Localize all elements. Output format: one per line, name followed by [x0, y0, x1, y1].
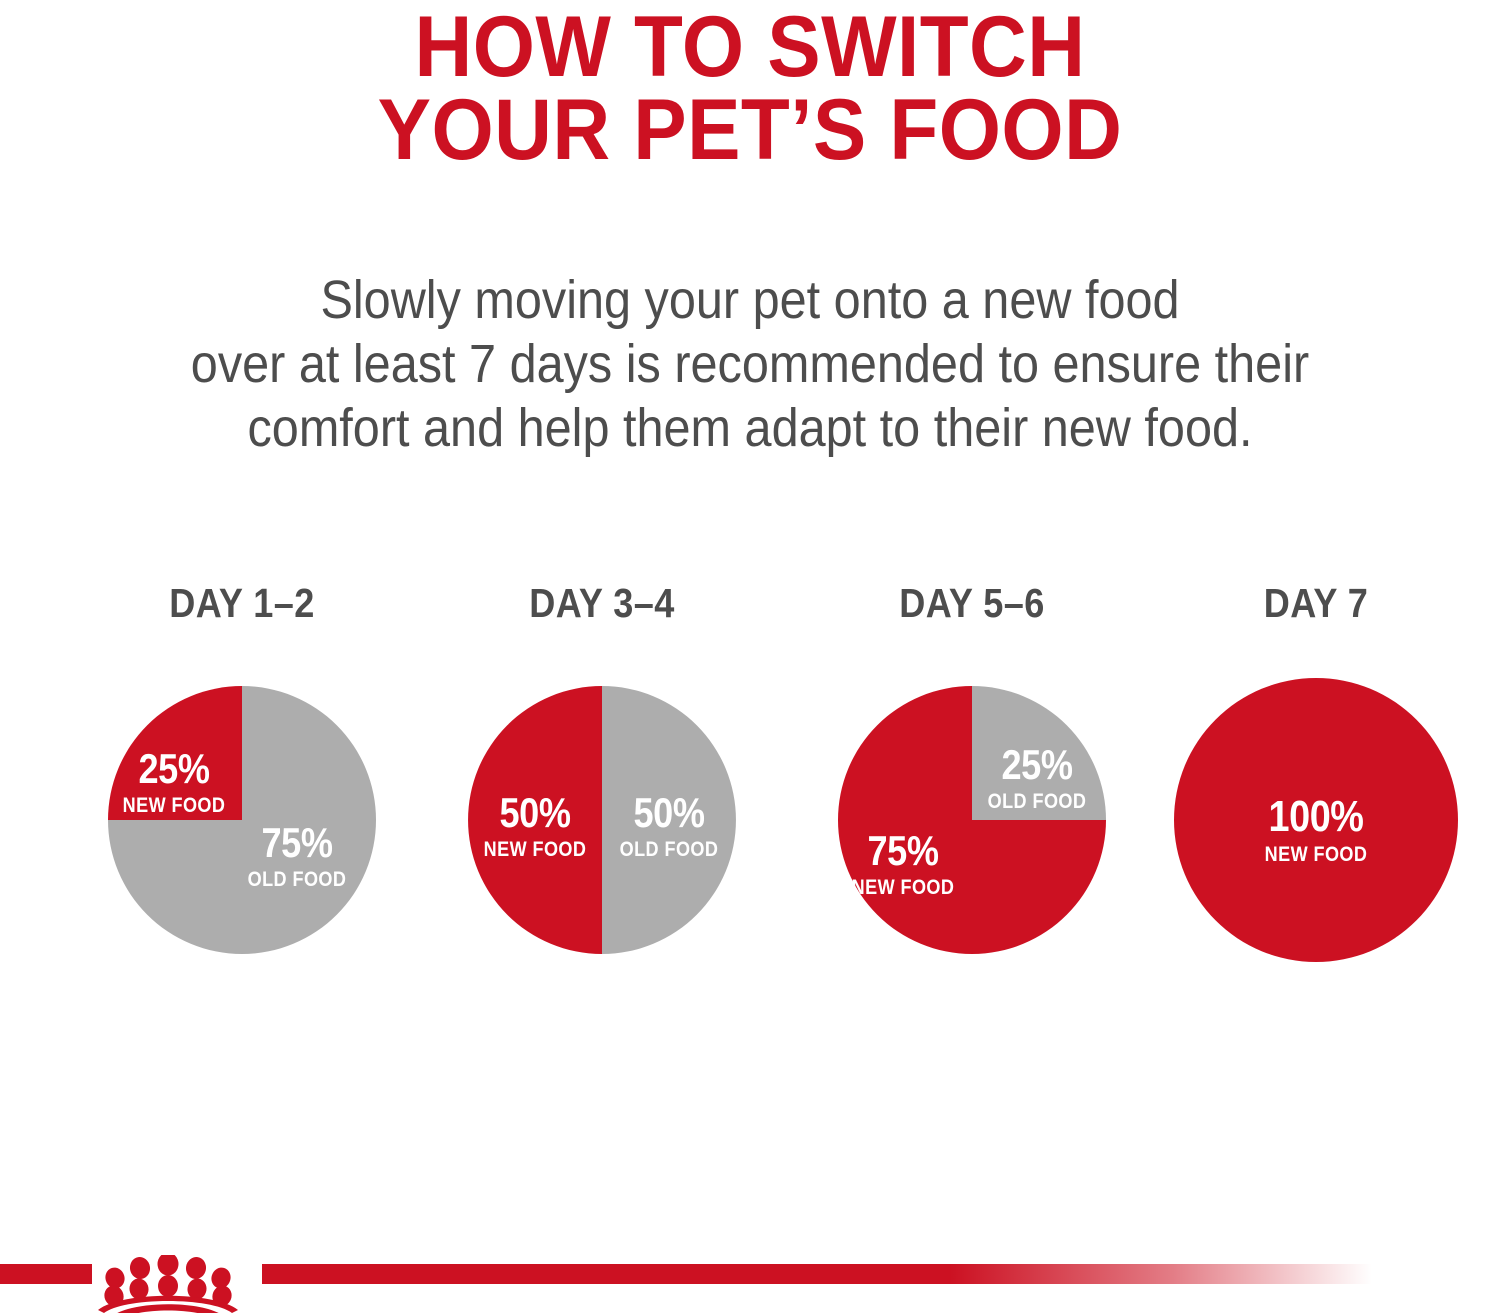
pie-day-5-6: 25% OLD FOOD 75% NEW FOOD — [822, 670, 1122, 970]
day-label-7: DAY 7 — [1184, 580, 1448, 626]
pie-svg-day-1-2 — [92, 670, 392, 970]
pie-chart-row: DAY 1–2 25% NEW FOOD 75% OLD FOOD — [0, 580, 1500, 980]
pie-svg-day-5-6 — [822, 670, 1122, 970]
day-label-5-6: DAY 5–6 — [840, 580, 1104, 626]
chart-day-3-4: DAY 3–4 50% NEW FOOD 50% OLD FOOD — [452, 580, 752, 980]
footer — [0, 1255, 1500, 1313]
pie-slice-old-food — [972, 686, 1106, 820]
intro-paragraph: Slowly moving your pet onto a new food o… — [75, 268, 1425, 460]
footer-rule-left — [0, 1264, 92, 1284]
infographic-page: HOW TO SWITCH YOUR PET’S FOOD Slowly mov… — [0, 0, 1500, 1313]
page-title-line-1: HOW TO SWITCH — [53, 6, 1448, 89]
pie-day-3-4: 50% NEW FOOD 50% OLD FOOD — [452, 670, 752, 970]
chart-day-1-2: DAY 1–2 25% NEW FOOD 75% OLD FOOD — [92, 580, 392, 980]
pie-svg-day-7 — [1166, 670, 1466, 970]
pie-slice-new-food — [108, 686, 242, 820]
pie-svg-day-3-4 — [452, 670, 752, 970]
chart-day-7: DAY 7 100% NEW FOOD — [1166, 580, 1466, 980]
intro-line-3: comfort and help them adapt to their new… — [75, 396, 1425, 460]
day-label-3-4: DAY 3–4 — [470, 580, 734, 626]
pie-slice-old-food — [602, 686, 736, 954]
royal-canin-crown-icon — [93, 1255, 263, 1313]
page-title: HOW TO SWITCH YOUR PET’S FOOD — [53, 6, 1448, 172]
pie-slice-new-food — [1174, 678, 1458, 962]
chart-day-5-6: DAY 5–6 25% OLD FOOD 75% NEW FOOD — [822, 580, 1122, 980]
day-label-1-2: DAY 1–2 — [110, 580, 374, 626]
pie-slice-new-food — [468, 686, 602, 954]
intro-line-1: Slowly moving your pet onto a new food — [75, 268, 1425, 332]
intro-line-2: over at least 7 days is recommended to e… — [75, 332, 1425, 396]
pie-day-1-2: 25% NEW FOOD 75% OLD FOOD — [92, 670, 392, 970]
page-title-line-2: YOUR PET’S FOOD — [53, 89, 1448, 172]
footer-rule-right — [262, 1264, 1372, 1284]
pie-day-7: 100% NEW FOOD — [1166, 670, 1466, 970]
